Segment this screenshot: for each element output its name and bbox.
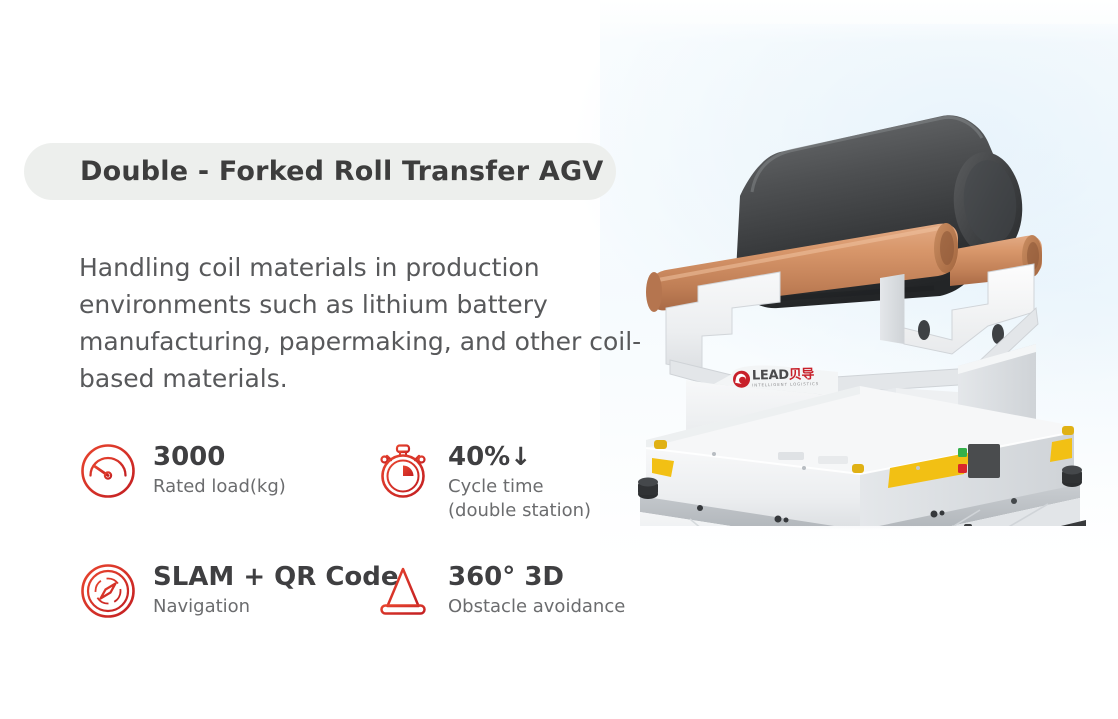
spec-text-navigation: SLAM + QR Code Navigation [153, 560, 399, 619]
spec-value: 3000 [153, 442, 286, 472]
stopwatch-icon [374, 442, 432, 500]
spec-item-rated-load: 3000 Rated load(kg) [79, 440, 374, 500]
spec-item-cycle-time: 40%↓ Cycle time (double station) [374, 440, 654, 523]
spec-text-rated-load: 3000 Rated load(kg) [153, 440, 286, 499]
lead-logo-wordmark: LEAD贝导 INTELLIGENT LOGISTICS [752, 368, 819, 387]
page-title: Double - Forked Roll Transfer AGV [80, 156, 603, 187]
spec-text-cycle-time: 40%↓ Cycle time (double station) [448, 440, 591, 523]
spec-row-1: 3000 Rated load(kg) [79, 440, 659, 560]
spec-value: SLAM + QR Code [153, 562, 399, 592]
title-pill: Double - Forked Roll Transfer AGV [24, 143, 616, 200]
spec-list: 3000 Rated load(kg) [79, 440, 659, 620]
agv-brand-logo: LEAD贝导 INTELLIGENT LOGISTICS [733, 368, 819, 388]
spec-value: 40%↓ [448, 442, 591, 472]
traffic-cone-icon [374, 562, 432, 620]
spec-label: Cycle time [448, 475, 591, 499]
down-arrow-icon: ↓ [510, 442, 531, 471]
control-panel [968, 444, 1000, 478]
spec-label: Rated load(kg) [153, 475, 286, 499]
spec-value: 360° 3D [448, 562, 625, 592]
product-slide: Double - Forked Roll Transfer AGV Handli… [0, 0, 1118, 719]
spec-item-navigation: SLAM + QR Code Navigation [79, 560, 374, 620]
spec-item-obstacle-avoidance: 360° 3D Obstacle avoidance [374, 560, 654, 620]
spec-label: Navigation [153, 595, 399, 619]
agv-product-image [628, 96, 1098, 526]
spec-label-secondary: (double station) [448, 499, 591, 523]
spec-text-obstacle-avoidance: 360° 3D Obstacle avoidance [448, 560, 625, 619]
lead-logo-mark [733, 370, 750, 387]
spec-value-number: 40% [448, 442, 510, 472]
compass-icon [79, 562, 137, 620]
spec-row-2: SLAM + QR Code Navigation [79, 560, 659, 620]
gauge-icon [79, 442, 137, 500]
spec-label: Obstacle avoidance [448, 595, 625, 619]
product-description: Handling coil materials in production en… [79, 249, 649, 397]
